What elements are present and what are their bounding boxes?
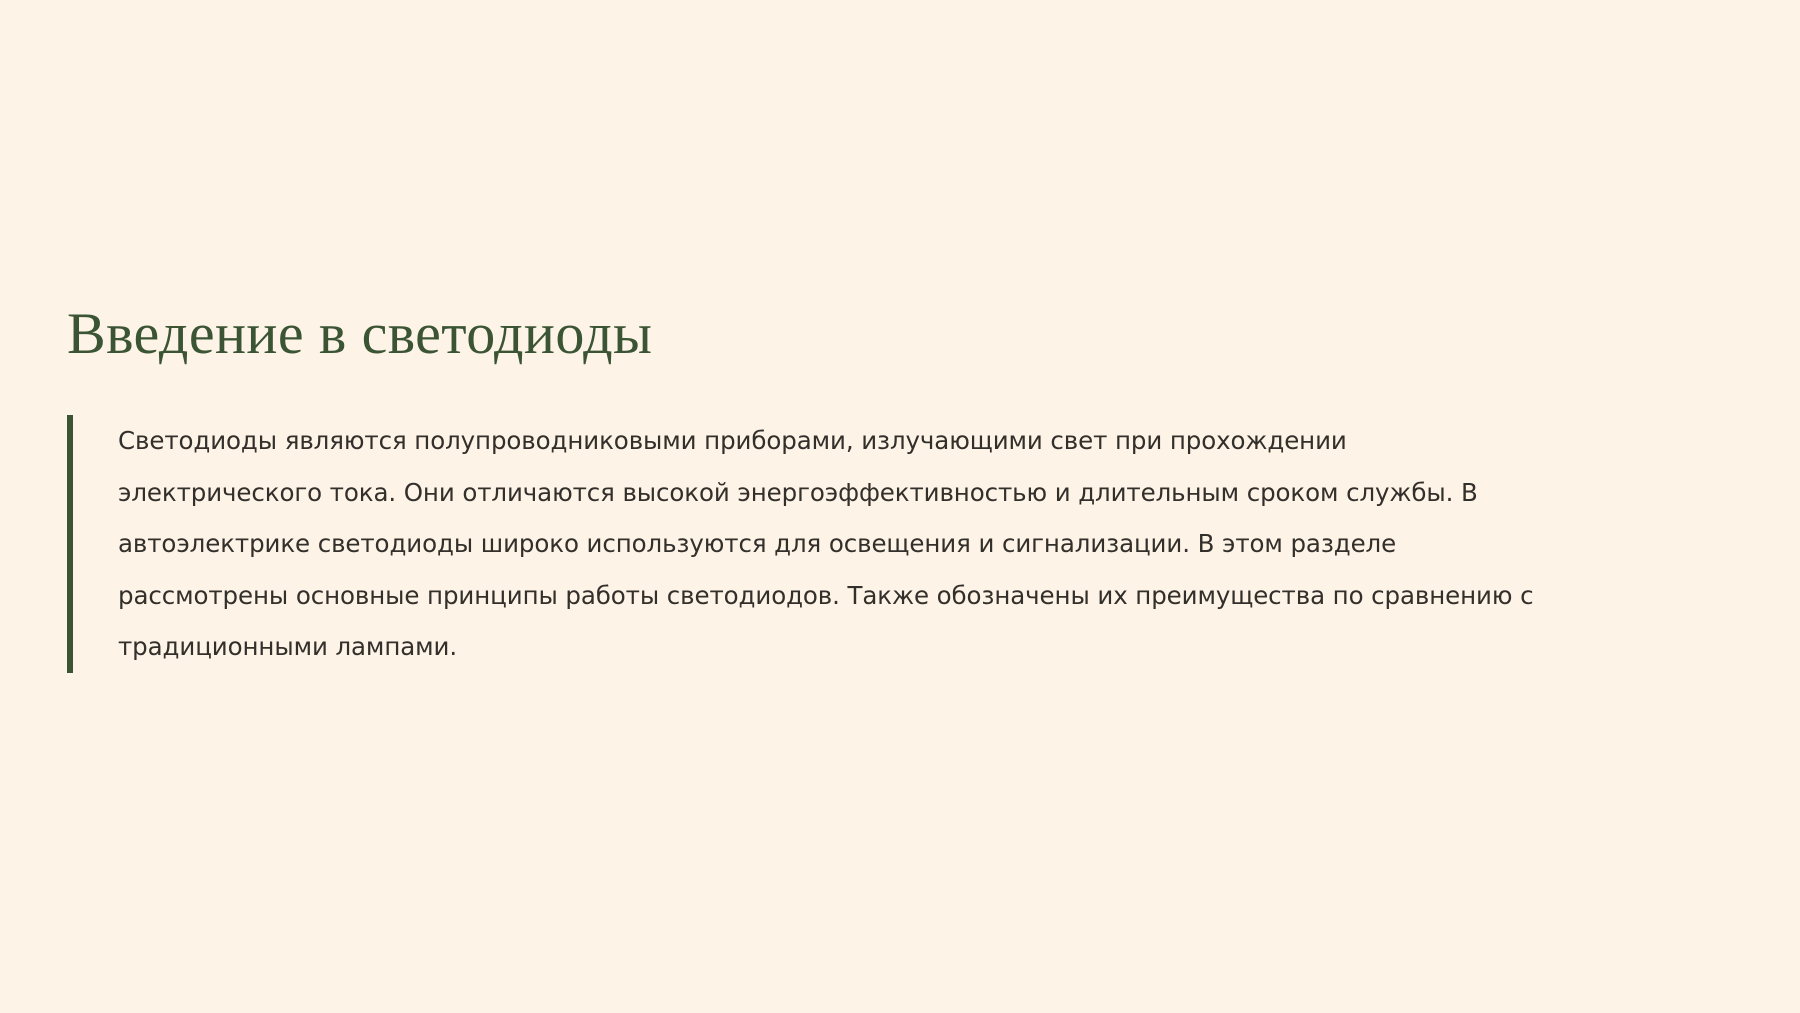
slide-canvas: Введение в светодиоды Светодиоды являютс… (0, 0, 1800, 1013)
intro-callout-block: Светодиоды являются полупроводниковыми п… (67, 415, 1567, 673)
intro-paragraph: Светодиоды являются полупроводниковыми п… (118, 415, 1548, 673)
page-title: Введение в светодиоды (67, 300, 1567, 368)
slide-content: Введение в светодиоды Светодиоды являютс… (67, 300, 1567, 673)
